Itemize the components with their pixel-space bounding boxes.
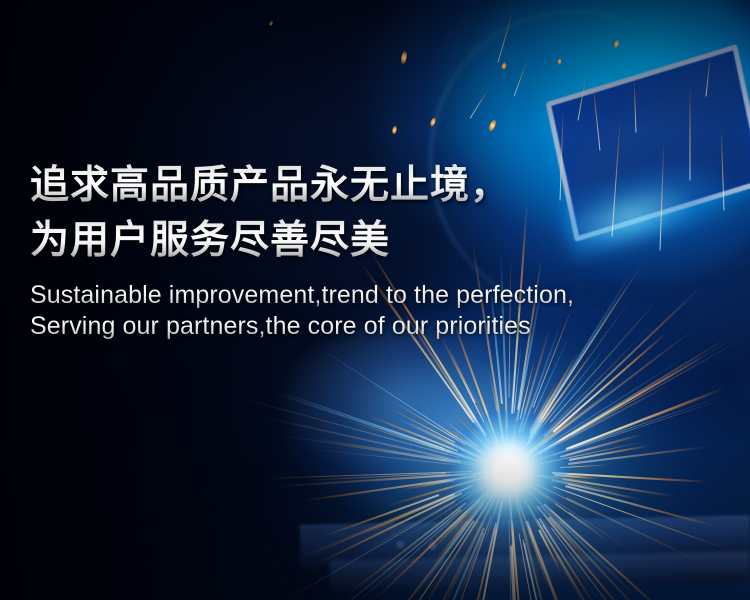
spark-ray	[634, 79, 637, 133]
welding-hero-banner: 追求高品质产品永无止境， 为用户服务尽善尽美 Sustainable impro…	[0, 0, 750, 600]
spark-ray	[592, 81, 600, 151]
ember-spark-icon	[268, 20, 273, 27]
spark-ray	[514, 59, 529, 97]
headline-line-2: 为用户服务尽善尽美	[30, 213, 720, 268]
ember-spark-icon	[400, 50, 407, 65]
spark-ray	[498, 7, 515, 63]
spark-ray	[721, 131, 725, 211]
spark-ray	[578, 75, 587, 120]
ember-spark-icon	[558, 58, 561, 65]
ember-spark-icon	[429, 117, 436, 128]
subhead-block: Sustainable improvement,trend to the per…	[30, 280, 720, 342]
ember-spark-icon	[488, 119, 498, 133]
banner-copy-block: 追求高品质产品永无止境， 为用户服务尽善尽美 Sustainable impro…	[30, 158, 720, 342]
ember-spark-icon	[613, 39, 620, 49]
subhead-line-2: Serving our partners,the core of our pri…	[30, 311, 720, 342]
ember-spark-icon	[501, 62, 507, 71]
spark-ray	[706, 57, 711, 97]
subhead-line-1: Sustainable improvement,trend to the per…	[30, 280, 720, 311]
spark-ray	[470, 89, 489, 118]
welding-arc-core	[448, 410, 568, 530]
headline-line-1: 追求高品质产品永无止境，	[30, 158, 720, 213]
ember-spark-icon	[392, 125, 398, 135]
spark-ray	[278, 391, 444, 449]
